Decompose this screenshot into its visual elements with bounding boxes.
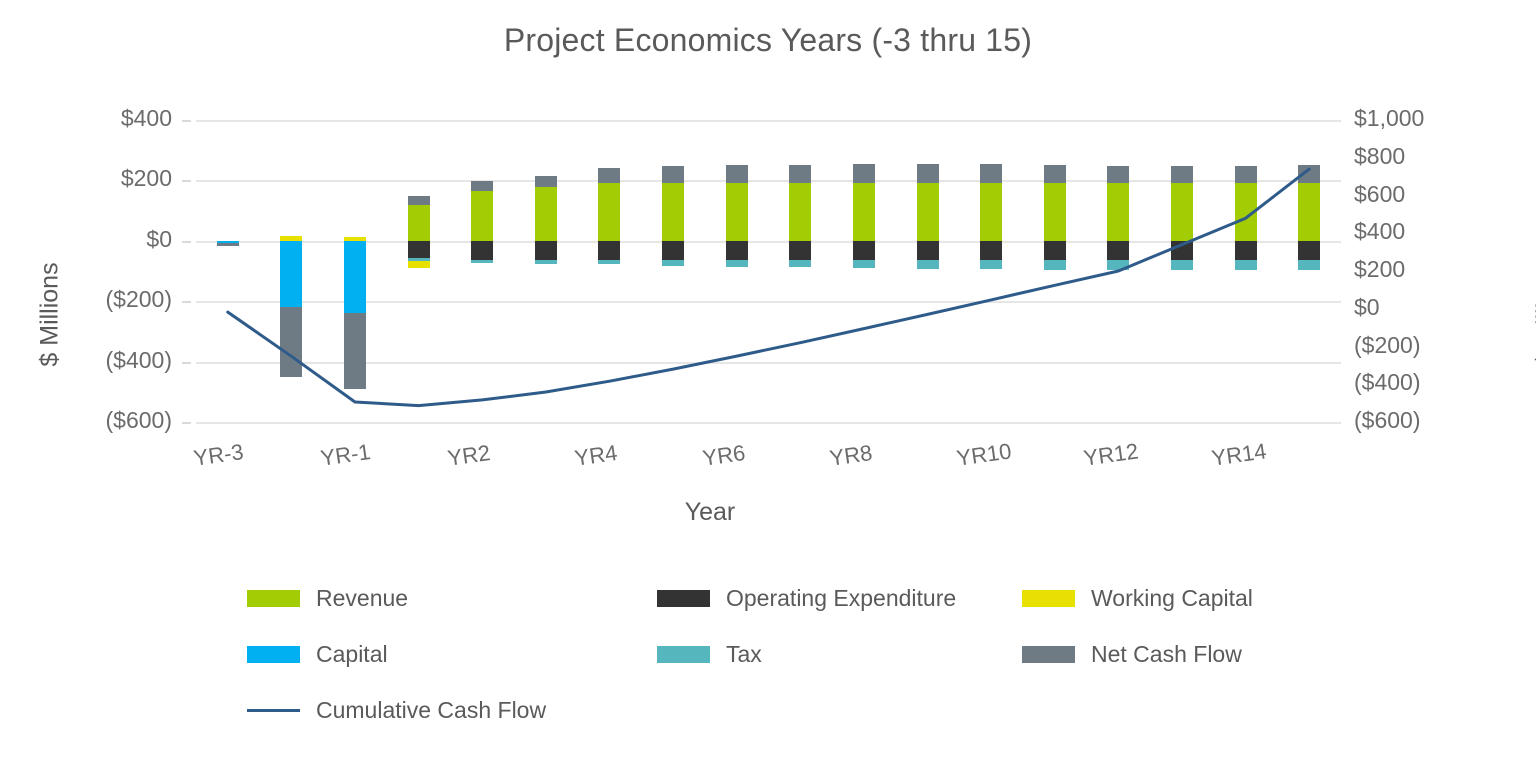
cumulative-cash-flow-line [196,120,1341,422]
y2-axis-tick-label: $200 [1354,256,1405,283]
legend-color-swatch [247,590,300,607]
chart-title: Project Economics Years (-3 thru 15) [0,22,1536,59]
y-axis-tick-mark [182,301,191,303]
y2-axis-tick-label: $600 [1354,181,1405,208]
y2-axis-tick-label: $800 [1354,143,1405,170]
x-axis-tick-label: YR14 [1210,438,1268,471]
legend-item[interactable]: Revenue [247,585,408,612]
legend-color-swatch [1022,646,1075,663]
legend-label: Net Cash Flow [1091,641,1242,668]
x-axis-tick-label: YR8 [828,440,874,472]
y2-axis-tick-label: $1,000 [1354,105,1424,132]
x-axis-tick-label: YR6 [701,440,747,472]
y-axis-tick-mark [182,180,191,182]
legend-label: Cumulative Cash Flow [316,697,546,724]
y2-axis-tick-label: ($600) [1354,407,1420,434]
legend-label: Revenue [316,585,408,612]
legend-item[interactable]: Tax [657,641,762,668]
legend-item[interactable]: Cumulative Cash Flow [247,697,546,724]
x-axis-title: Year [0,498,1420,527]
legend-item[interactable]: Working Capital [1022,585,1253,612]
chart-container: Project Economics Years (-3 thru 15) $ M… [0,0,1536,760]
y2-axis-tick-label: $0 [1354,294,1380,321]
y2-axis-tick-label: ($400) [1354,369,1420,396]
legend-label: Working Capital [1091,585,1253,612]
y-axis-tick-label: ($400) [20,347,172,374]
legend-line-marker [247,709,300,712]
legend-color-swatch [1022,590,1075,607]
y-axis-tick-label: $0 [20,226,172,253]
gridline [196,422,1341,424]
y2-axis-tick-label: $400 [1354,218,1405,245]
x-axis-tick-label: YR-1 [319,439,372,472]
legend-color-swatch [247,646,300,663]
y-axis-tick-label: $200 [20,165,172,192]
y-axis-tick-label: ($600) [20,407,172,434]
y-axis-tick-label: ($200) [20,286,172,313]
legend-item[interactable]: Capital [247,641,388,668]
legend-label: Tax [726,641,762,668]
x-axis-tick-label: YR4 [573,440,619,472]
x-axis-tick-label: YR2 [446,440,492,472]
y-axis-tick-mark [182,241,191,243]
plot-area [196,120,1341,422]
y-axis-tick-label: $400 [20,105,172,132]
y-axis-tick-mark [182,362,191,364]
y-axis-tick-mark [182,120,191,122]
legend-item[interactable]: Net Cash Flow [1022,641,1242,668]
x-axis-tick-label: YR10 [955,438,1013,471]
legend-color-swatch [657,646,710,663]
legend-label: Operating Expenditure [726,585,956,612]
x-axis-tick-label: YR12 [1082,438,1140,471]
legend-label: Capital [316,641,388,668]
y-axis-tick-mark [182,422,191,424]
legend-color-swatch [657,590,710,607]
chart-legend: RevenueOperating ExpenditureWorking Capi… [247,585,1347,745]
legend-item[interactable]: Operating Expenditure [657,585,956,612]
x-axis-tick-label: YR-3 [192,439,245,472]
y-axis-title-right: $ Millions [1532,225,1536,405]
y2-axis-tick-label: ($200) [1354,332,1420,359]
